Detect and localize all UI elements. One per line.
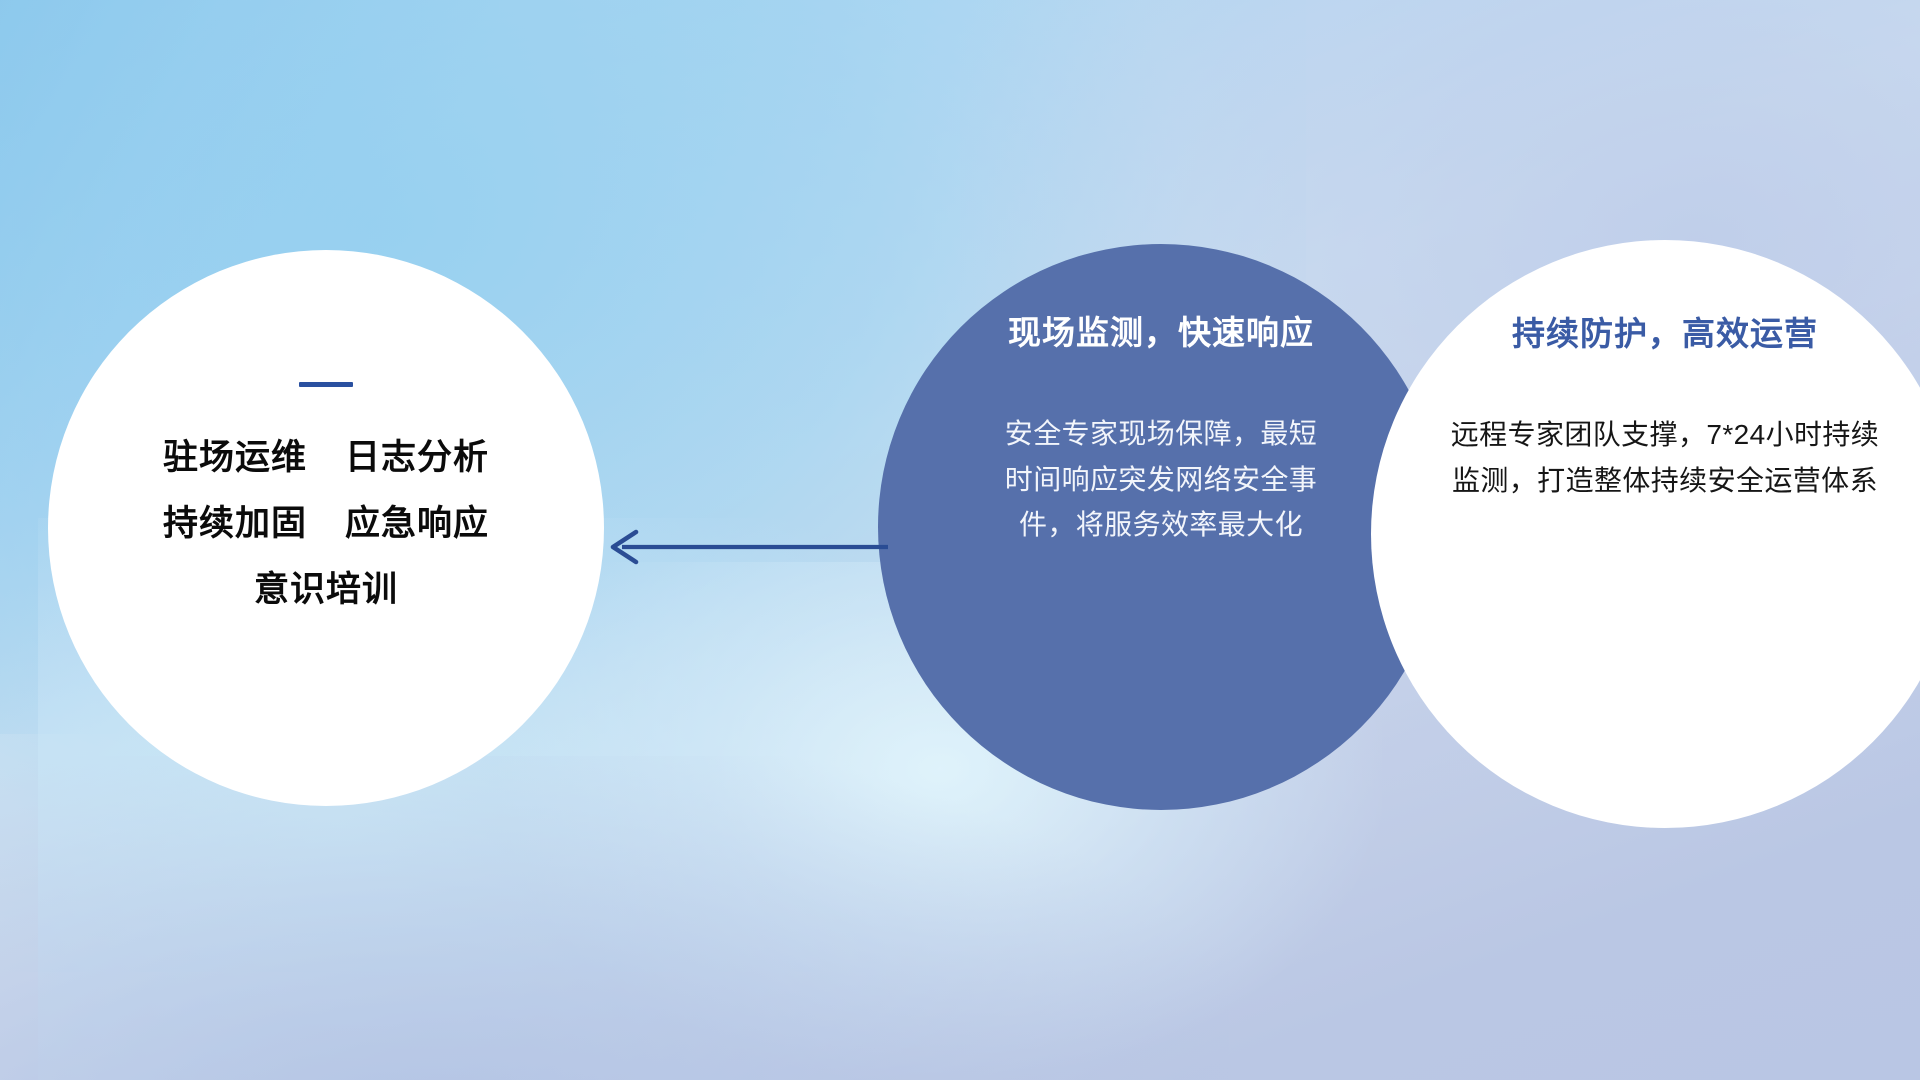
right-circle-body: 远程专家团队支撑，7*24小时持续监测，打造整体持续安全运营体系 xyxy=(1450,412,1880,503)
diagram-stage: 驻场运维 日志分析 持续加固 应急响应 意识培训 现场监测，快速响应 安全专家现… xyxy=(0,0,1920,1080)
keyword-chip[interactable]: 意识培训 xyxy=(254,572,398,607)
arrow-left-icon xyxy=(600,525,890,569)
keyword-row: 持续加固 应急响应 xyxy=(163,506,489,541)
keyword-row: 意识培训 xyxy=(254,572,398,607)
middle-circle-content: 现场监测，快速响应 安全专家现场保障，最短时间响应突发网络安全事件，将服务效率最… xyxy=(878,244,1444,547)
right-circle-heading: 持续防护，高效运营 xyxy=(1512,316,1818,352)
left-circle-content: 驻场运维 日志分析 持续加固 应急响应 意识培训 xyxy=(48,250,604,638)
keyword-chip[interactable]: 应急响应 xyxy=(345,506,489,541)
keyword-row: 驻场运维 日志分析 xyxy=(163,440,489,475)
dash-divider-icon xyxy=(299,382,353,387)
keyword-chip[interactable]: 日志分析 xyxy=(345,440,489,475)
keyword-chip[interactable]: 持续加固 xyxy=(163,506,307,541)
right-continuous-protection-circle[interactable]: 持续防护，高效运营 远程专家团队支撑，7*24小时持续监测，打造整体持续安全运营… xyxy=(1371,240,1920,828)
middle-circle-body: 安全专家现场保障，最短时间响应突发网络安全事件，将服务效率最大化 xyxy=(996,411,1326,547)
middle-circle-heading: 现场监测，快速响应 xyxy=(1008,315,1314,351)
left-keywords-circle[interactable]: 驻场运维 日志分析 持续加固 应急响应 意识培训 xyxy=(48,250,604,806)
right-circle-content: 持续防护，高效运营 远程专家团队支撑，7*24小时持续监测，打造整体持续安全运营… xyxy=(1371,240,1920,503)
keyword-chip[interactable]: 驻场运维 xyxy=(163,440,307,475)
middle-onsite-monitoring-circle[interactable]: 现场监测，快速响应 安全专家现场保障，最短时间响应突发网络安全事件，将服务效率最… xyxy=(878,244,1444,810)
